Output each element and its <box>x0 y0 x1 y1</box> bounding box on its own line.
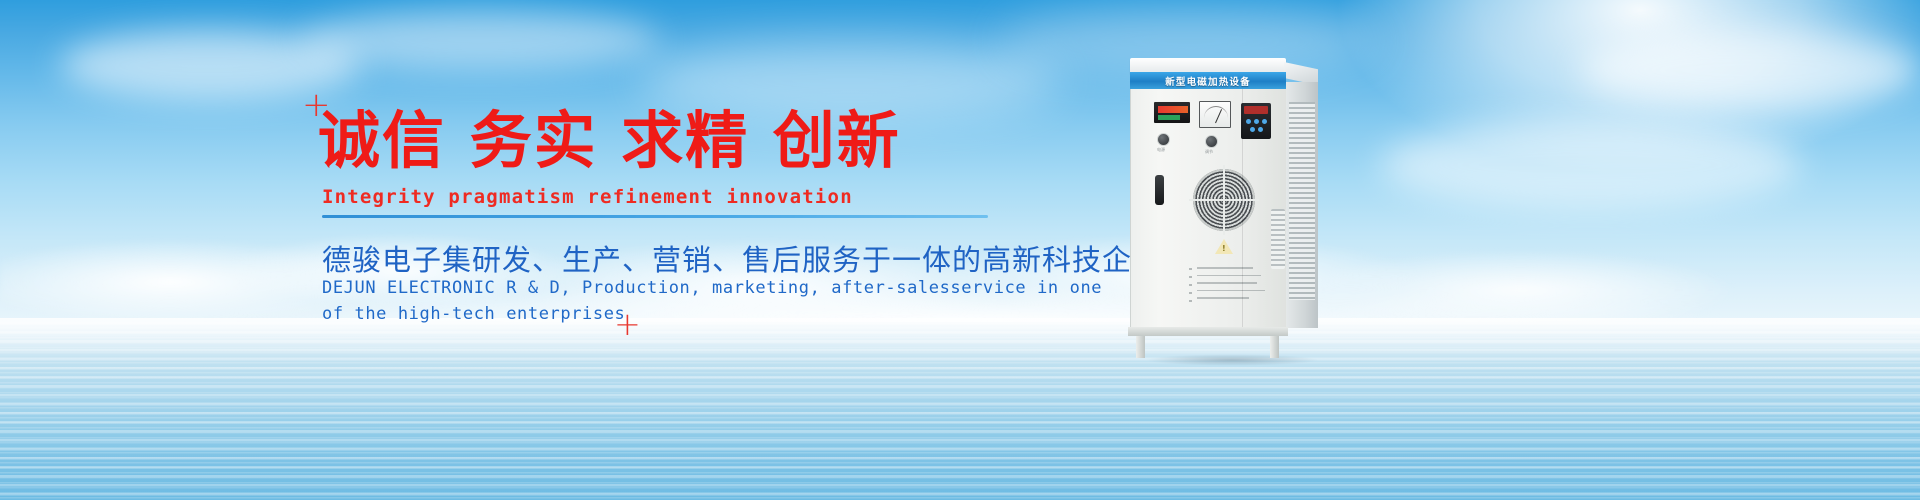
keypad-button[interactable] <box>1258 127 1263 132</box>
divider-rule <box>322 215 988 218</box>
machine-brand-banner: 新型电磁加热设备 <box>1130 72 1286 89</box>
machine-leg <box>1270 336 1279 358</box>
product-machine: 新型电磁加热设备 电源 调节 <box>1124 58 1324 358</box>
description-chinese: 德骏电子集研发、生产、营销、售后服务于一体的高新科技企业 <box>322 237 1162 279</box>
machine-base <box>1128 327 1288 336</box>
hero-banner: + + 诚信 务实 求精 创新 Integrity pragmatism ref… <box>0 0 1920 500</box>
headline-chinese: 诚信 务实 求精 创新 <box>318 110 901 172</box>
spec-line <box>1197 267 1253 269</box>
spec-line <box>1197 290 1265 292</box>
subtitle-english: Integrity pragmatism refinement innovati… <box>322 186 853 208</box>
spec-label-block <box>1197 267 1267 309</box>
description-english-line-1: DEJUN ELECTRONIC R & D, Production, mark… <box>322 278 1102 298</box>
panel-seam <box>1242 89 1243 327</box>
meter-scale-arc <box>1204 106 1228 118</box>
door-handle[interactable] <box>1155 175 1164 205</box>
machine-side-vents <box>1286 82 1318 328</box>
machine-brand-label: 新型电磁加热设备 <box>1165 74 1251 88</box>
keypad-display <box>1244 106 1268 114</box>
control-keypad[interactable] <box>1241 103 1271 139</box>
power-knob[interactable] <box>1157 133 1170 146</box>
spec-line <box>1197 275 1261 277</box>
adjust-knob[interactable] <box>1205 135 1218 148</box>
display-segment-red <box>1158 106 1188 113</box>
spec-line <box>1197 282 1257 284</box>
banner-content: + + 诚信 务实 求精 创新 Integrity pragmatism ref… <box>0 0 1920 500</box>
keypad-button[interactable] <box>1262 119 1267 124</box>
front-vent-strip <box>1271 209 1285 269</box>
power-knob-label: 电源 <box>1157 147 1165 153</box>
digital-temperature-display <box>1153 101 1191 124</box>
warning-triangle-icon <box>1215 239 1233 254</box>
machine-leg <box>1136 336 1145 358</box>
display-segment-green <box>1158 115 1180 120</box>
machine-front-panel: 电源 调节 <box>1130 89 1286 327</box>
analog-ammeter <box>1199 101 1231 128</box>
description-english-line-2: of the high-tech enterprises <box>322 304 625 324</box>
keypad-button[interactable] <box>1246 119 1251 124</box>
keypad-button[interactable] <box>1250 127 1255 132</box>
fan-cross-vertical <box>1223 165 1225 235</box>
adjust-knob-label: 调节 <box>1205 149 1213 155</box>
keypad-button[interactable] <box>1254 119 1259 124</box>
